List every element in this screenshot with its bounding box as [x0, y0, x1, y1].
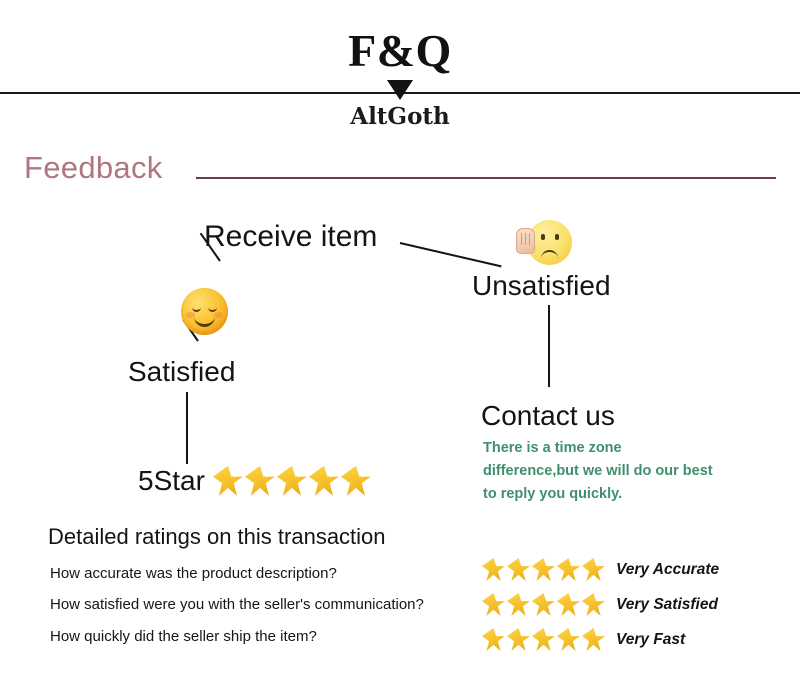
smiley-eye-right [208, 305, 217, 312]
rating-label-3: Very Fast [616, 632, 685, 648]
rating-question-3: How quickly did the seller ship the item… [50, 629, 317, 644]
star-icon [341, 466, 371, 496]
frown-mouth [541, 250, 558, 262]
star-icon [277, 466, 307, 496]
unsatisfied-label: Unsatisfied [472, 272, 611, 300]
star-icon [213, 466, 243, 496]
five-star-label: 5Star [138, 467, 205, 495]
rating-row-1: Very Accurate [482, 558, 719, 581]
rating-label-1: Very Accurate [616, 562, 719, 578]
smiley-eye-left [192, 305, 201, 312]
star-icon [245, 466, 275, 496]
star-icon [532, 593, 555, 616]
feedback-faq-page: F&Q AltGoth Feedback Receive item Satisf… [0, 0, 800, 680]
brand-name: AltGoth [0, 105, 800, 128]
star-icon [532, 628, 555, 651]
rating-row-3: Very Fast [482, 628, 685, 651]
star-icon [507, 558, 530, 581]
star-icon [507, 593, 530, 616]
frown-eye-right [555, 234, 559, 240]
star-icon [582, 593, 605, 616]
connector-receive-to-unsatisfied [400, 242, 502, 267]
star-icon [557, 628, 580, 651]
page-title: F&Q [0, 28, 800, 74]
rating-stars-1 [482, 558, 605, 581]
star-icon [482, 628, 505, 651]
star-icon [507, 628, 530, 651]
feedback-divider [196, 177, 776, 179]
rating-stars-3 [482, 628, 605, 651]
connector-satisfied-to-fivestar [186, 392, 188, 464]
feedback-heading: Feedback [24, 152, 163, 183]
five-star-row: 5Star [138, 466, 371, 496]
smiley-cheek-right [214, 312, 223, 318]
rating-label-2: Very Satisfied [616, 597, 718, 613]
smiley-mouth [194, 312, 215, 327]
connector-unsatisfied-to-contact [548, 305, 550, 387]
star-icon [557, 558, 580, 581]
star-icon [309, 466, 339, 496]
star-icon [582, 558, 605, 581]
frown-eye-left [541, 234, 545, 240]
satisfied-label: Satisfied [128, 358, 235, 386]
star-icon [482, 593, 505, 616]
rating-row-2: Very Satisfied [482, 593, 718, 616]
star-icon [582, 628, 605, 651]
raised-hand-icon [516, 228, 535, 254]
rating-stars-2 [482, 593, 605, 616]
star-icon [557, 593, 580, 616]
contact-us-note: There is a time zone difference,but we w… [483, 437, 713, 506]
detailed-ratings-title: Detailed ratings on this transaction [48, 526, 386, 548]
star-icon [532, 558, 555, 581]
receive-item-label: Receive item [204, 222, 377, 252]
rating-question-2: How satisfied were you with the seller's… [50, 597, 424, 612]
smiling-face-emoji [181, 288, 228, 335]
triangle-down-icon [387, 80, 413, 100]
five-star-stars [213, 466, 371, 496]
star-icon [482, 558, 505, 581]
rating-question-1: How accurate was the product description… [50, 566, 337, 581]
contact-us-heading: Contact us [481, 402, 615, 430]
